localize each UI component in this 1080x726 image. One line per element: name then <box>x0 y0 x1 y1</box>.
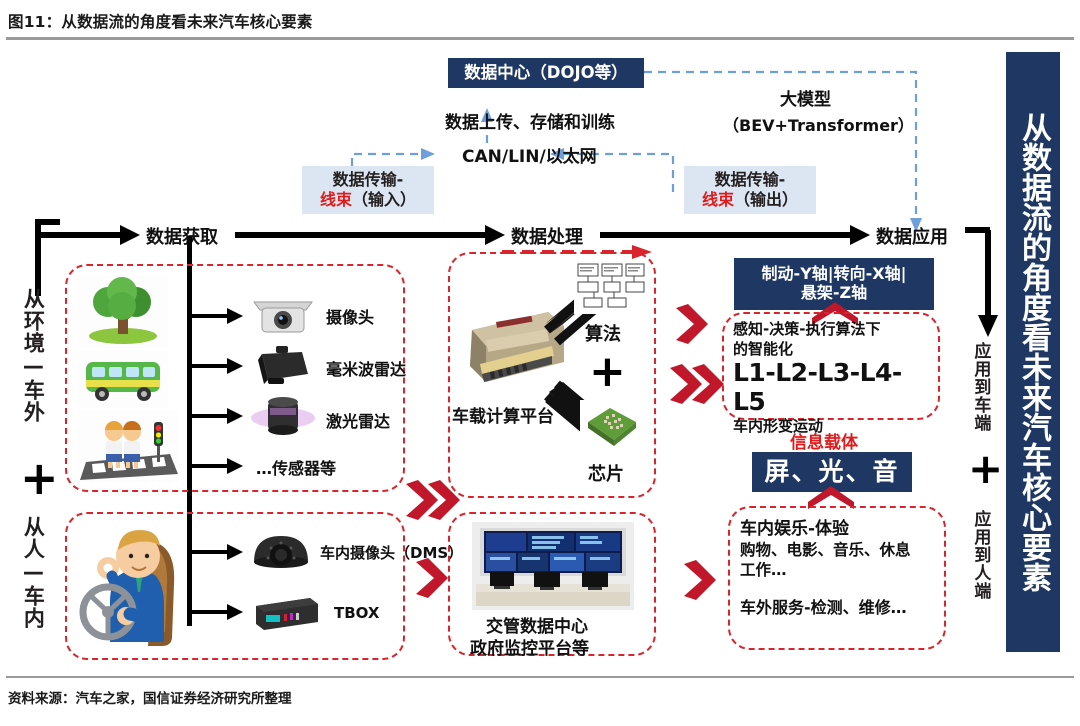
bus-image <box>78 350 168 408</box>
chevron-process-to-vehicle <box>672 302 712 348</box>
left-axis-plus: + <box>20 455 59 501</box>
pedestrians-crosswalk-image <box>78 410 178 482</box>
right-axis-to-vehicle: 应用到车端 <box>971 342 988 432</box>
side-banner: 从数据流的角度看未来汽车核心要素 <box>1006 52 1060 652</box>
right-axis-plus: + <box>968 448 1003 490</box>
human-apply-line1: 车内娱乐-体验 <box>740 518 940 540</box>
millimeter-wave-radar-image <box>248 340 318 392</box>
sensor-label-others: …传感器等 <box>256 455 336 479</box>
driver-steering-wheel-image <box>78 520 186 650</box>
process-label-chip: 芯片 <box>588 460 624 486</box>
vehicle-apply-line2: 的智能化 <box>733 340 933 360</box>
sensor-label-camera: 摄像头 <box>326 304 374 328</box>
data-transmission-output-box: 数据传输- 线束（输出） <box>684 166 816 214</box>
big-model-subtitle: （BEV+Transformer） <box>723 112 914 136</box>
right-bracket-arrow <box>960 225 1010 345</box>
data-transmission-input-box: 数据传输- 线束（输入） <box>302 166 434 214</box>
human-apply-line4: 车外服务-检测、维修… <box>740 598 940 619</box>
tree-image <box>78 276 168 348</box>
cabin-branch-arrows <box>185 530 255 640</box>
side-banner-text: 从数据流的角度看未来汽车核心要素 <box>1018 112 1048 592</box>
big-model-title: 大模型 <box>780 85 831 110</box>
acquire-branch-arrows <box>185 290 255 490</box>
process-plus: + <box>589 350 626 394</box>
left-bracket <box>20 218 60 298</box>
transmission-input-line1: 数据传输- <box>333 170 404 190</box>
process-label-algorithm: 算法 <box>585 320 621 346</box>
algorithm-flowchart-image <box>574 258 648 314</box>
chevron-acquire-to-process-single <box>412 556 452 602</box>
chip-image <box>580 400 644 456</box>
network-protocol-label: CAN/LIN/以太网 <box>462 142 597 167</box>
harness-red-text: 线束 <box>320 190 352 209</box>
vehicle-apply-levels: L1-L2-L3-L4-L5 <box>733 359 933 417</box>
process-dashed-red-arrow <box>500 244 660 260</box>
chevron-traffic-to-human <box>680 558 720 604</box>
transmission-output-line2: 线束（输出） <box>702 190 798 210</box>
vehicle-apply-body: 感知-决策-执行算法下 的智能化 L1-L2-L3-L4-L5 车内形变运动 <box>733 320 933 436</box>
chevron-process-to-vehicle-double <box>668 362 730 408</box>
left-axis-person: 从人—车内 <box>22 516 43 629</box>
data-center-box: 数据中心（DOJO等） <box>448 58 644 88</box>
human-apply-line2: 购物、电影、音乐、休息 <box>740 540 940 560</box>
lidar-image <box>248 392 318 444</box>
source-divider <box>6 676 1074 678</box>
source-note: 资料来源：汽车之家，国信证券经济研究所整理 <box>8 687 292 707</box>
transmission-output-line1: 数据传输- <box>715 170 786 190</box>
info-carrier-label: 信息载体 <box>790 428 858 453</box>
arrowhead-right-canlin <box>421 148 435 160</box>
harness-red-text-2: 线束 <box>702 190 734 209</box>
sensor-label-lidar: 激光雷达 <box>326 408 390 432</box>
cabin-label-tbox: TBOX <box>334 604 379 622</box>
left-axis-environment: 从环境—车外 <box>22 288 43 423</box>
right-axis-to-person: 应用到人端 <box>971 510 988 600</box>
traffic-caption-line2: 政府监控平台等 <box>470 634 589 659</box>
figure-canvas: 图11：从数据流的角度看未来汽车核心要素 数据中心（DOJO等） 数据上传、存储… <box>0 0 1080 726</box>
data-upload-label: 数据上传、存储和训练 <box>445 108 615 133</box>
flow-label-apply: 数据应用 <box>876 223 948 249</box>
vehicle-apply-line1: 感知-决策-执行算法下 <box>733 320 933 340</box>
transmission-input-line2: 线束（输入） <box>320 190 416 210</box>
camera-image <box>248 290 318 340</box>
tbox-image <box>248 588 324 636</box>
traffic-control-center-image <box>472 522 634 610</box>
flow-label-acquire: 数据获取 <box>146 223 218 249</box>
dome-camera-image <box>248 528 314 576</box>
sensor-label-mmwave: 毫米波雷达 <box>326 356 406 380</box>
human-apply-line3: 工作… <box>740 560 940 580</box>
vehicle-control-line1: 制动-Y轴|转向-X轴| <box>762 265 907 284</box>
human-apply-body: 车内娱乐-体验 购物、电影、音乐、休息 工作… 车外服务-检测、维修… <box>740 518 940 619</box>
